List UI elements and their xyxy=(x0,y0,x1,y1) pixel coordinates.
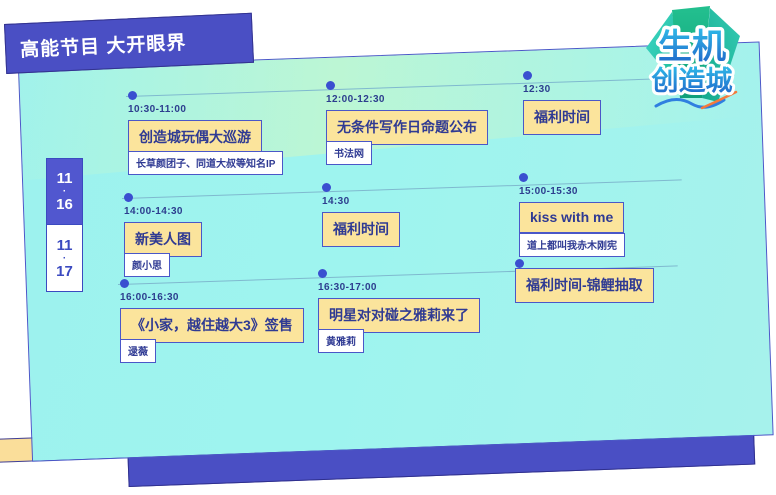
timeline-dot-icon xyxy=(318,269,327,278)
date-tab-separator: · xyxy=(63,187,66,196)
event-tag: 长草颜团子、同道大叔等知名IP xyxy=(128,151,283,175)
event-title[interactable]: 明星对对碰之雅莉来了 xyxy=(318,298,480,333)
date-tab-month: 11 xyxy=(57,238,73,253)
event-title[interactable]: 创造城玩偶大巡游 xyxy=(128,120,262,155)
date-tab-group[interactable]: 11·1611·17 xyxy=(46,158,83,292)
timeline-dot-icon xyxy=(515,259,524,268)
timeline-dot-icon xyxy=(326,81,335,90)
timeline-dot-icon xyxy=(519,173,528,182)
brand-logo: 生机 生机 创造城 创造城 xyxy=(606,2,772,122)
event-title[interactable]: kiss with me xyxy=(519,202,624,233)
timeline-dot-icon xyxy=(120,279,129,288)
timeline-dot-icon xyxy=(322,183,331,192)
event-time: 12:30 xyxy=(523,84,551,95)
event-title[interactable]: 福利时间-锦鲤抽取 xyxy=(515,268,654,303)
event-title[interactable]: 无条件写作日命题公布 xyxy=(326,110,488,145)
event-tag: 黄雅莉 xyxy=(318,329,364,353)
event-tag: 道上都叫我赤木刚宪 xyxy=(519,233,625,257)
timeline-dot-icon xyxy=(124,193,133,202)
event-time: 14:30 xyxy=(322,196,350,207)
date-tab-day: 17 xyxy=(56,264,73,279)
event-tag: 颜小思 xyxy=(124,253,170,277)
event-tag: 逯薇 xyxy=(120,339,156,363)
banner-ribbon-text: 高能节目 大开眼界 xyxy=(6,27,187,62)
logo-line1: 生机 xyxy=(658,28,726,66)
event-tag: 书法网 xyxy=(326,141,372,165)
event-title[interactable]: 新美人图 xyxy=(124,222,202,257)
event-time: 14:00-14:30 xyxy=(124,206,183,217)
event-time: 10:30-11:00 xyxy=(128,104,186,115)
event-time: 12:00-12:30 xyxy=(326,94,385,105)
date-tab-month: 11 xyxy=(57,171,73,186)
event-title[interactable]: 《小家，越住越大3》签售 xyxy=(120,308,304,343)
date-tab-11-17[interactable]: 11·17 xyxy=(47,225,82,291)
date-tab-day: 16 xyxy=(56,197,73,212)
timeline-dot-icon xyxy=(128,91,137,100)
event-title[interactable]: 福利时间 xyxy=(322,212,400,247)
logo-line2: 创造城 xyxy=(651,66,733,96)
event-time: 15:00-15:30 xyxy=(519,186,578,197)
poster-canvas: 高能节目 大开眼界 展区节目单 11·1611·17 10:30-11:00创造… xyxy=(0,0,776,495)
event-time: 16:30-17:00 xyxy=(318,282,377,293)
date-tab-separator: · xyxy=(63,254,66,263)
date-tab-11-16[interactable]: 11·16 xyxy=(47,159,82,225)
logo-wordmark: 生机 生机 创造城 创造城 xyxy=(651,28,733,96)
event-time: 16:00-16:30 xyxy=(120,292,179,303)
timeline-dot-icon xyxy=(523,71,532,80)
event-title[interactable]: 福利时间 xyxy=(523,100,601,135)
